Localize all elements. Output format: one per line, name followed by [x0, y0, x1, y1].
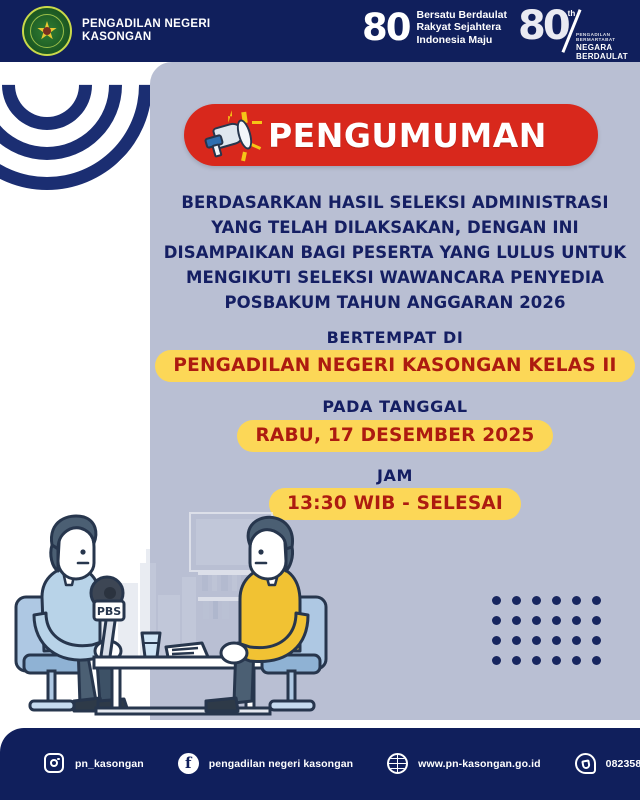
venue-value: PENGADILAN NEGERI KASONGAN KELAS II: [155, 350, 634, 382]
announcement-banner: PENGUMUMAN: [184, 104, 598, 166]
date-label-row: PADA TANGGAL: [150, 397, 640, 417]
venue-label-row: BERTEMPAT DI: [150, 328, 640, 348]
footer-item-instagram[interactable]: pn_kasongan: [44, 753, 144, 775]
footer-label-website: www.pn-kasongan.go.id: [418, 758, 540, 770]
body-line-1: BERDASARKAN HASIL SELEKSI ADMINISTRASI: [156, 190, 634, 215]
anniversary-logo-secondary: 80 th PENGADILAN BERMARTABAT NEGARA BERD…: [518, 6, 575, 46]
dot-grid-decoration: [492, 596, 612, 676]
footer-bar: pn_kasongan f pengadilan negeri kasongan…: [0, 728, 640, 800]
tagline-line2: Rakyat Sejahtera: [417, 21, 507, 33]
announcement-title: PENGUMUMAN: [268, 116, 547, 155]
body-line-5: POSBAKUM TAHUN ANGGARAN 2026: [156, 290, 634, 315]
footer-item-whatsapp[interactable]: 082358826573: [575, 753, 640, 775]
court-seal-icon: [22, 6, 72, 56]
megaphone-icon: [202, 111, 264, 159]
date-label: PADA TANGGAL: [322, 397, 467, 416]
secondary-subtitle: PENGADILAN BERMARTABAT NEGARA BERDAULAT: [576, 32, 628, 61]
tagline-line1: Bersatu Berdaulat: [417, 9, 507, 21]
footer-label-whatsapp: 082358826573: [606, 758, 640, 770]
secondary-anniversary-number: 80: [518, 6, 568, 46]
secondary-sub-line2: NEGARA BERDAULAT: [576, 43, 628, 61]
secondary-superscript: th: [568, 9, 576, 18]
secondary-sub-line1: PENGADILAN BERMARTABAT: [576, 32, 628, 42]
instagram-icon: [44, 753, 66, 775]
body-line-3: DISAMPAIKAN BAGI PESERTA YANG LULUS UNTU…: [156, 240, 634, 265]
body-line-2: YANG TELAH DILAKSAKAN, DENGAN INI: [156, 215, 634, 240]
footer-label-facebook: pengadilan negeri kasongan: [209, 758, 353, 770]
anniversary-tagline: Bersatu Berdaulat Rakyat Sejahtera Indon…: [417, 9, 507, 46]
time-label: JAM: [377, 466, 413, 485]
date-value-row: RABU, 17 DESEMBER 2025: [150, 420, 640, 452]
footer-item-facebook[interactable]: f pengadilan negeri kasongan: [178, 753, 353, 775]
globe-icon: [387, 753, 409, 775]
body-line-4: MENGIKUTI SELEKSI WAWANCARA PENYEDIA: [156, 265, 634, 290]
interview-illustration: PBS: [0, 505, 330, 730]
time-label-row: JAM: [150, 466, 640, 486]
footer-item-website[interactable]: www.pn-kasongan.go.id: [387, 753, 540, 775]
announcement-body: BERDASARKAN HASIL SELEKSI ADMINISTRASI Y…: [156, 190, 634, 315]
announcement-poster: PENGADILAN NEGERI KASONGAN 80 Bersatu Be…: [0, 0, 640, 800]
header-org-line2: KASONGAN: [82, 31, 210, 44]
header-branding: PENGADILAN NEGERI KASONGAN: [22, 6, 210, 56]
venue-value-row: PENGADILAN NEGERI KASONGAN KELAS II: [150, 350, 640, 382]
header-org-name: PENGADILAN NEGERI KASONGAN: [82, 18, 210, 44]
header-bar: PENGADILAN NEGERI KASONGAN 80 Bersatu Be…: [0, 0, 640, 62]
anniversary-logo-primary: 80 Bersatu Berdaulat Rakyat Sejahtera In…: [362, 9, 507, 46]
header-org-line1: PENGADILAN NEGERI: [82, 18, 210, 31]
anniversary-number: 80: [362, 9, 410, 46]
mic-label: PBS: [97, 605, 121, 618]
date-value: RABU, 17 DESEMBER 2025: [237, 420, 552, 452]
venue-label: BERTEMPAT DI: [327, 328, 464, 347]
footer-label-instagram: pn_kasongan: [75, 758, 144, 770]
facebook-icon: f: [178, 753, 200, 775]
tagline-line3: Indonesia Maju: [417, 34, 507, 46]
whatsapp-icon: [575, 753, 597, 775]
